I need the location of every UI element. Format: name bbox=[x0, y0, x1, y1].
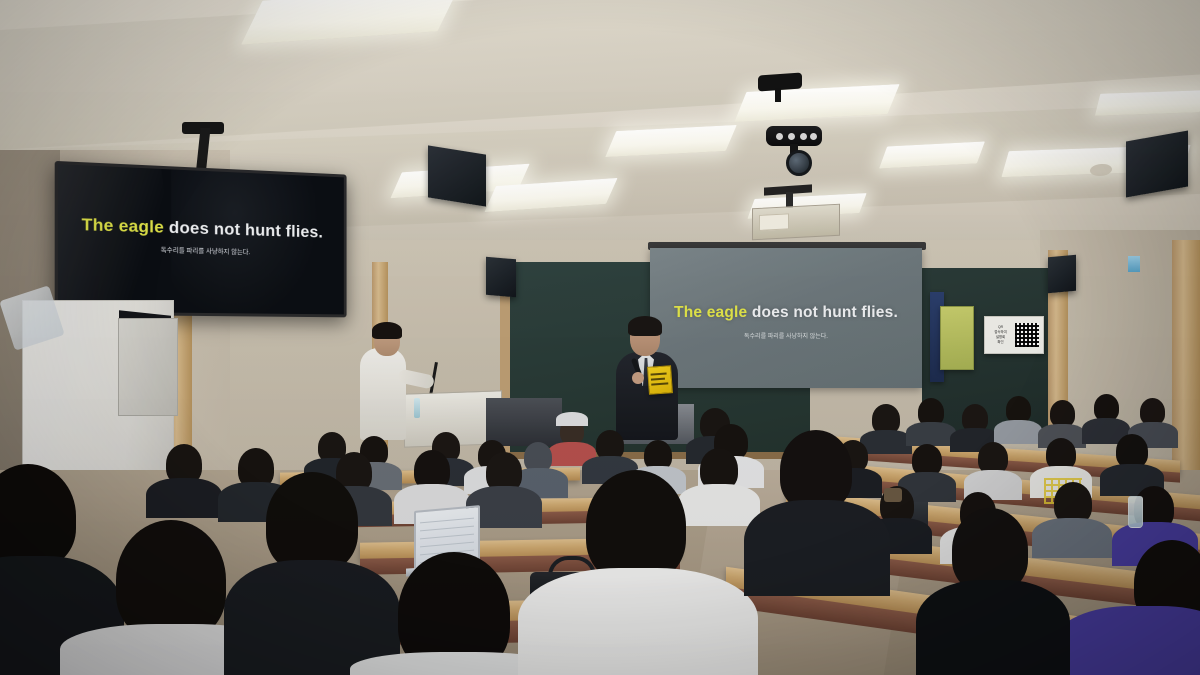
av-console bbox=[486, 398, 562, 446]
projection-screen[interactable]: The eagle does not hunt flies. 독수리를 파리를 … bbox=[650, 248, 922, 388]
presenter-hair bbox=[628, 316, 662, 336]
operator-body bbox=[360, 348, 406, 440]
slide-rest-text: does not hunt flies. bbox=[747, 304, 898, 321]
ceiling-light-panel bbox=[1095, 90, 1200, 116]
audience-shoulders-foreground bbox=[744, 500, 890, 596]
water-bottle bbox=[414, 398, 420, 418]
wall-monitor[interactable]: The eagle does not hunt flies. 독수리를 파리를 … bbox=[55, 161, 347, 317]
projected-slide-korean: 독수리를 파리를 사냥하지 않는다. bbox=[650, 331, 922, 340]
ceiling-speaker bbox=[428, 145, 486, 206]
audience-head bbox=[1050, 400, 1075, 427]
audience-shoulders bbox=[1032, 518, 1112, 558]
ceiling-projector bbox=[752, 204, 840, 241]
slide-highlight-text: The eagle bbox=[82, 215, 164, 237]
camera-lens-icon bbox=[786, 150, 812, 176]
yellow-booklet bbox=[647, 365, 673, 395]
audience-cap bbox=[556, 412, 588, 426]
wall-speaker bbox=[486, 257, 516, 298]
audience-head bbox=[1006, 396, 1031, 423]
audience-head-foreground bbox=[266, 472, 358, 572]
water-bottle bbox=[1128, 496, 1143, 528]
wall-speaker bbox=[1048, 255, 1076, 293]
audience-head-foreground bbox=[586, 470, 686, 582]
slide-highlight-text: The eagle bbox=[674, 304, 747, 321]
qr-poster[interactable]: QR 접속하여 설명회 확인 bbox=[984, 316, 1044, 354]
ceiling-speaker bbox=[1126, 131, 1188, 198]
desk-item bbox=[884, 488, 902, 502]
audience-shoulders bbox=[906, 422, 956, 446]
projector-label bbox=[759, 213, 789, 231]
lecture-hall-photo: QR 접속하여 설명회 확인 The eagle does not hunt f… bbox=[0, 0, 1200, 675]
audience-head bbox=[1140, 398, 1165, 425]
camera-arm bbox=[775, 88, 781, 102]
operator-hair bbox=[372, 322, 402, 339]
qr-poster-text: QR 접속하여 설명회 확인 bbox=[990, 325, 1012, 345]
audience-head bbox=[1094, 394, 1119, 421]
audience-head-foreground bbox=[116, 520, 226, 640]
presenter-hand bbox=[632, 372, 644, 384]
screen-glare bbox=[55, 161, 184, 317]
storage-cabinet bbox=[118, 318, 178, 416]
audience-shoulders bbox=[678, 484, 760, 526]
qr-code-icon[interactable] bbox=[1015, 323, 1039, 347]
audience-shoulders-foreground bbox=[1056, 606, 1200, 675]
ptz-camera-icon bbox=[766, 126, 822, 146]
audience-shoulders-foreground bbox=[518, 568, 758, 675]
projected-slide-english: The eagle does not hunt flies. bbox=[650, 304, 922, 322]
exit-sign bbox=[1128, 256, 1140, 272]
wood-column bbox=[1172, 240, 1200, 490]
audience-shoulders bbox=[146, 478, 222, 518]
audience-head bbox=[1116, 434, 1148, 468]
audience-shoulders bbox=[994, 420, 1042, 444]
green-poster[interactable] bbox=[940, 306, 974, 370]
audience-shoulders bbox=[860, 430, 912, 454]
audience-head-foreground bbox=[780, 430, 852, 510]
audience-shoulders-foreground bbox=[916, 580, 1070, 675]
